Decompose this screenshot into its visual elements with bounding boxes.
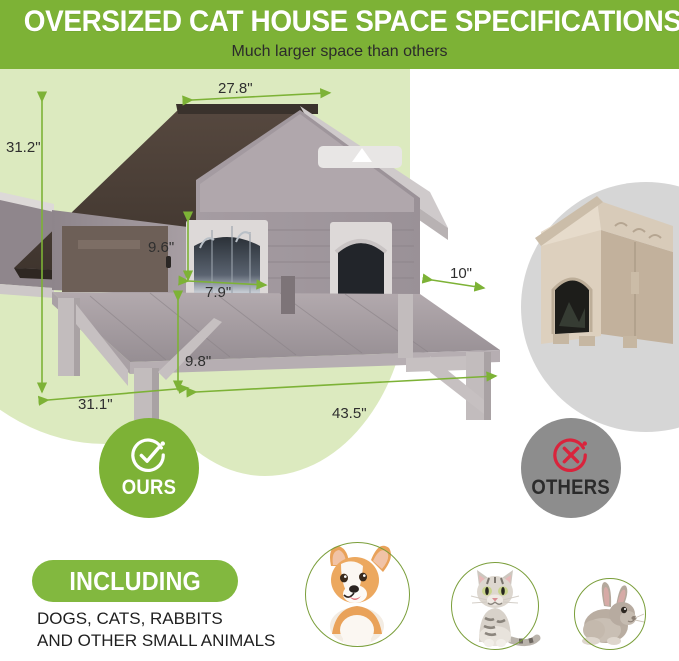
x-circle-icon [552,436,590,474]
including-pill: INCLUDING [32,560,238,602]
badge-others: OTHERS [521,418,621,518]
animal-cat [451,562,539,650]
badge-others-label: OTHERS [532,476,611,500]
animal-rabbit-ring [574,578,646,650]
animal-dog-ring [305,542,410,647]
including-pill-label: INCLUDING [69,566,201,597]
badge-ours: OURS [99,418,199,518]
dimension-label-roof-width: 27.8" [218,80,253,97]
dimension-label-deck-depth: 10" [450,265,472,282]
dimension-label-leg-height: 9.8" [185,353,211,370]
page-title: OVERSIZED CAT HOUSE SPACE SPECIFICATIONS [24,5,655,39]
animal-cat-ring [451,562,539,650]
animal-rabbit [574,578,646,650]
including-line-1: DOGS, CATS, RABBITS [37,608,317,630]
dimension-label-height: 31.2" [6,139,41,156]
including-line-2: AND OTHER SMALL ANIMALS [37,630,317,652]
small-cardboard-cat-house-photo [523,186,679,376]
infographic-page: OVERSIZED CAT HOUSE SPACE SPECIFICATIONS… [0,0,679,661]
page-subtitle: Much larger space than others [0,42,679,62]
dimension-label-door-height: 9.6" [148,239,174,256]
dimension-label-width: 43.5" [332,405,367,422]
badge-ours-label: OURS [122,476,176,500]
including-description: DOGS, CATS, RABBITS AND OTHER SMALL ANIM… [37,608,317,652]
dimension-label-depth: 31.1" [78,396,113,413]
header-banner: OVERSIZED CAT HOUSE SPACE SPECIFICATIONS… [0,0,679,69]
large-wooden-cat-house-photo [0,80,520,420]
check-circle-icon [130,436,168,474]
dimension-label-door-width: 7.9" [205,284,231,301]
animal-dog [305,542,410,647]
